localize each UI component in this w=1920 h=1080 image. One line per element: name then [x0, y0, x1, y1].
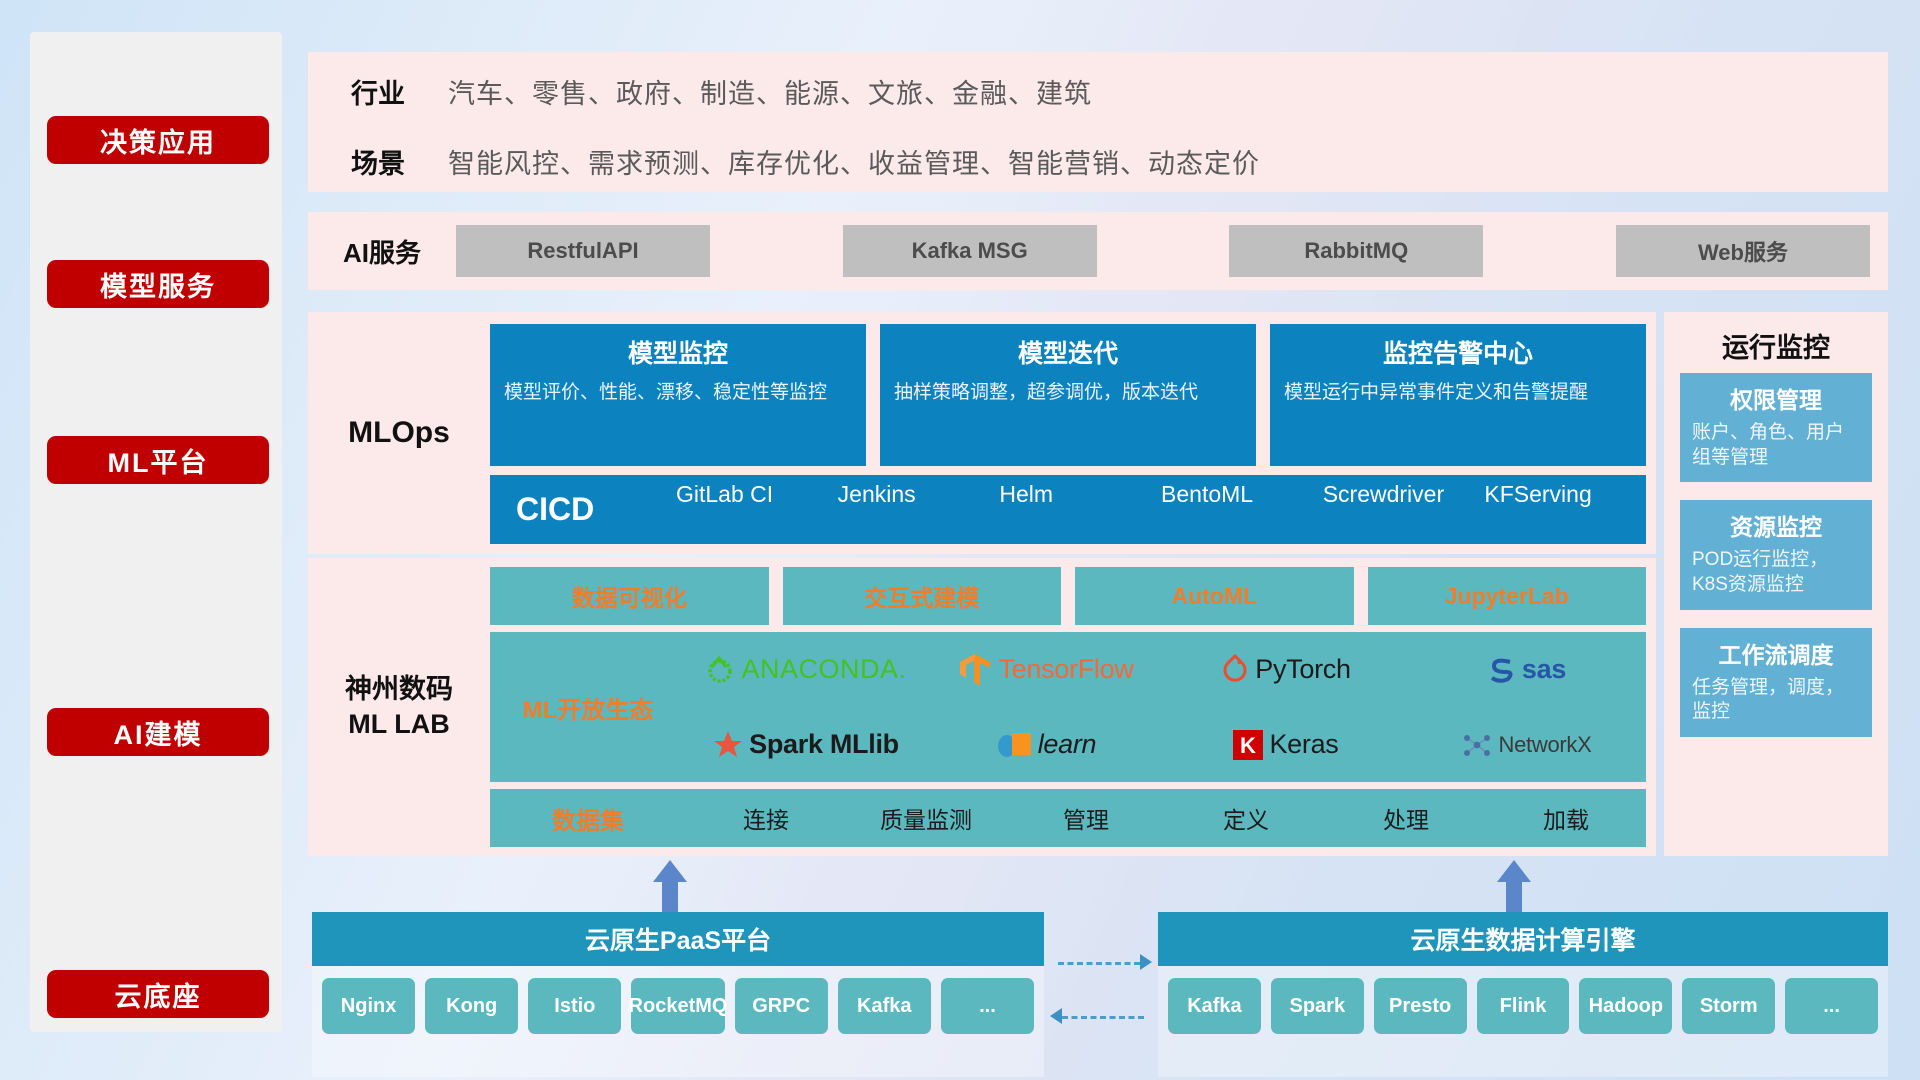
dataset-item-connect[interactable]: 连接	[686, 801, 846, 835]
rail-label: 云底座	[115, 975, 202, 1014]
ml-ecosystem-logos: ANACONDA. TensorFlow PyTorch sas	[686, 632, 1646, 782]
anaconda-logo: ANACONDA.	[705, 654, 906, 685]
chip-rocketmq[interactable]: RocketMQ	[631, 978, 724, 1034]
dataset-item-processing[interactable]: 处理	[1326, 801, 1486, 835]
mlops-label: MLOps	[308, 312, 490, 554]
pytorch-logo: PyTorch	[1221, 654, 1350, 686]
ml-lab-tools: 数据可视化 交互式建模 AutoML JupyterLab	[490, 567, 1646, 625]
sas-wordmark: sas	[1522, 654, 1566, 685]
card-title: 模型迭代	[894, 334, 1242, 370]
cloud-compute-panel: 云原生数据计算引擎 Kafka Spark Presto Flink Hadoo…	[1158, 912, 1888, 1077]
spark-mllib-wordmark: Spark MLlib	[749, 729, 899, 760]
scenario-line: 场景 智能风控、需求预测、库存优化、收益管理、智能营销、动态定价	[308, 126, 1888, 196]
dashed-arrowhead-right	[1140, 954, 1152, 970]
card-title: 权限管理	[1692, 381, 1860, 415]
card-title: 工作流调度	[1692, 636, 1860, 670]
ai-service-box-restfulapi[interactable]: RestfulAPI	[456, 225, 710, 277]
dataset-item-definition[interactable]: 定义	[1166, 801, 1326, 835]
chip-flink[interactable]: Flink	[1477, 978, 1570, 1034]
diagram-canvas: 决策应用 模型服务 ML平台 AI建模 云底座 行业 汽车、零售、政府、制造、能…	[0, 0, 1920, 1080]
keras-logo: K Keras	[1233, 729, 1338, 760]
ai-service-label: AI服务	[308, 233, 456, 270]
dataset-label: 数据集	[490, 801, 686, 836]
cloud-compute-chips: Kafka Spark Presto Flink Hadoop Storm ..…	[1158, 966, 1888, 1046]
mlops-card-alert-center[interactable]: 监控告警中心 模型运行中异常事件定义和告警提醒	[1270, 324, 1646, 466]
cicd-item-screwdriver[interactable]: Screwdriver	[1323, 481, 1485, 537]
cicd-title: CICD	[516, 491, 676, 528]
mlops-card-model-monitoring[interactable]: 模型监控 模型评价、性能、漂移、稳定性等监控	[490, 324, 866, 466]
dashed-connector-right	[1058, 962, 1140, 965]
runtime-monitor-title: 运行监控	[1664, 312, 1888, 373]
cicd-item-jenkins[interactable]: Jenkins	[838, 481, 1000, 537]
rail-label: AI建模	[114, 713, 203, 752]
monitor-card-resource[interactable]: 资源监控 POD运行监控，K8S资源监控	[1680, 500, 1872, 609]
ml-ecosystem-label: ML开放生态	[490, 690, 686, 725]
cloud-paas-chips: Nginx Kong Istio RocketMQ GRPC Kafka ...	[312, 966, 1044, 1046]
scenario-values: 智能风控、需求预测、库存优化、收益管理、智能营销、动态定价	[448, 142, 1260, 181]
card-desc: POD运行监控，K8S资源监控	[1692, 548, 1860, 597]
scikit-learn-logo: learn	[996, 729, 1097, 760]
runtime-monitor-panel: 运行监控 权限管理 账户、角色、用户组等管理 资源监控 POD运行监控，K8S资…	[1664, 312, 1888, 856]
ml-lab-label: 神州数码 ML LAB	[308, 558, 490, 856]
card-desc: 模型评价、性能、漂移、稳定性等监控	[504, 380, 852, 405]
chip-kafka-compute[interactable]: Kafka	[1168, 978, 1261, 1034]
cicd-item-gitlab-ci[interactable]: GitLab CI	[676, 481, 838, 537]
card-desc: 任务管理，调度，监控	[1692, 676, 1860, 725]
rail-item-ai-modeling[interactable]: AI建模	[47, 708, 269, 756]
tensorflow-logo: TensorFlow	[958, 652, 1133, 688]
monitor-card-permission[interactable]: 权限管理 账户、角色、用户组等管理	[1680, 373, 1872, 482]
tool-chip-interactive-modeling[interactable]: 交互式建模	[783, 567, 1062, 625]
dataset-item-loading[interactable]: 加载	[1486, 801, 1646, 835]
card-desc: 账户、角色、用户组等管理	[1692, 421, 1860, 470]
dataset-row: 数据集 连接 质量监测 管理 定义 处理 加载	[490, 789, 1646, 847]
ml-lab-label-line2: ML LAB	[345, 707, 453, 742]
ai-service-boxes: RestfulAPI Kafka MSG RabbitMQ Web服务	[456, 225, 1888, 277]
chip-grpc[interactable]: GRPC	[735, 978, 828, 1034]
tool-chip-automl[interactable]: AutoML	[1075, 567, 1354, 625]
anaconda-wordmark: ANACONDA.	[741, 654, 906, 685]
chip-kafka[interactable]: Kafka	[838, 978, 931, 1034]
ml-lab-label-line1: 神州数码	[345, 672, 453, 707]
left-rail: 决策应用 模型服务 ML平台 AI建模 云底座	[30, 32, 282, 1032]
chip-nginx[interactable]: Nginx	[322, 978, 415, 1034]
rail-item-cloud-base[interactable]: 云底座	[47, 970, 269, 1018]
networkx-logo: NetworkX	[1461, 730, 1592, 760]
sas-logo: sas	[1486, 654, 1566, 685]
card-title: 监控告警中心	[1284, 334, 1632, 370]
tensorflow-wordmark: TensorFlow	[998, 654, 1133, 685]
ai-service-box-rabbitmq[interactable]: RabbitMQ	[1229, 225, 1483, 277]
rail-label: ML平台	[108, 441, 209, 480]
cicd-item-bentoml[interactable]: BentoML	[1161, 481, 1323, 537]
tool-chip-jupyterlab[interactable]: JupyterLab	[1368, 567, 1647, 625]
card-title: 模型监控	[504, 334, 852, 370]
dataset-item-quality-monitoring[interactable]: 质量监测	[846, 801, 1006, 835]
ai-service-band: AI服务 RestfulAPI Kafka MSG RabbitMQ Web服务	[308, 212, 1888, 290]
card-desc: 模型运行中异常事件定义和告警提醒	[1284, 380, 1632, 405]
chip-spark[interactable]: Spark	[1271, 978, 1364, 1034]
industry-values: 汽车、零售、政府、制造、能源、文旅、金融、建筑	[448, 72, 1092, 111]
dataset-item-management[interactable]: 管理	[1006, 801, 1166, 835]
dashed-connector-left	[1062, 1016, 1144, 1019]
ml-lab-band: 神州数码 ML LAB 数据可视化 交互式建模 AutoML JupyterLa…	[308, 558, 1656, 856]
mlops-card-model-iteration[interactable]: 模型迭代 抽样策略调整，超参调优，版本迭代	[880, 324, 1256, 466]
rail-label: 模型服务	[100, 265, 216, 304]
card-title: 资源监控	[1692, 508, 1860, 542]
ml-ecosystem-row: ML开放生态 ANACONDA. TensorFlow PyTorc	[490, 632, 1646, 782]
ai-service-box-web-service[interactable]: Web服务	[1616, 225, 1870, 277]
chip-more-compute[interactable]: ...	[1785, 978, 1878, 1034]
card-desc: 抽样策略调整，超参调优，版本迭代	[894, 380, 1242, 405]
mlops-band: MLOps 模型监控 模型评价、性能、漂移、稳定性等监控 模型迭代 抽样策略调整…	[308, 312, 1656, 554]
chip-hadoop[interactable]: Hadoop	[1579, 978, 1672, 1034]
up-arrow-paas	[653, 860, 687, 918]
cicd-bar: CICD GitLab CI Jenkins Helm BentoML Scre…	[490, 475, 1646, 544]
chip-storm[interactable]: Storm	[1682, 978, 1775, 1034]
cloud-paas-title: 云原生PaaS平台	[312, 912, 1044, 966]
networkx-wordmark: NetworkX	[1499, 732, 1592, 758]
scenario-label: 场景	[308, 142, 448, 181]
cloud-paas-panel: 云原生PaaS平台 Nginx Kong Istio RocketMQ GRPC…	[312, 912, 1044, 1077]
cicd-item-helm[interactable]: Helm	[999, 481, 1161, 537]
ai-service-box-kafka-msg[interactable]: Kafka MSG	[843, 225, 1097, 277]
rail-item-model-service[interactable]: 模型服务	[47, 260, 269, 308]
cicd-item-kfserving[interactable]: KFServing	[1484, 481, 1646, 537]
pytorch-wordmark: PyTorch	[1255, 654, 1350, 685]
chip-presto[interactable]: Presto	[1374, 978, 1467, 1034]
industry-label: 行业	[308, 72, 448, 111]
monitor-card-workflow[interactable]: 工作流调度 任务管理，调度，监控	[1680, 628, 1872, 737]
mlops-cards: 模型监控 模型评价、性能、漂移、稳定性等监控 模型迭代 抽样策略调整，超参调优，…	[490, 324, 1646, 466]
up-arrow-compute	[1497, 860, 1531, 918]
keras-wordmark: Keras	[1269, 729, 1338, 760]
svg-text:K: K	[1241, 733, 1257, 758]
rail-label: 决策应用	[100, 121, 216, 160]
industry-scenario-band: 行业 汽车、零售、政府、制造、能源、文旅、金融、建筑 场景 智能风控、需求预测、…	[308, 52, 1888, 192]
industry-line: 行业 汽车、零售、政府、制造、能源、文旅、金融、建筑	[308, 56, 1888, 126]
chip-more-paas[interactable]: ...	[941, 978, 1034, 1034]
spark-mllib-logo: Spark MLlib	[713, 729, 899, 760]
cloud-compute-title: 云原生数据计算引擎	[1158, 912, 1888, 966]
dashed-arrowhead-left	[1050, 1008, 1062, 1024]
scikit-learn-wordmark: learn	[1038, 729, 1097, 760]
rail-item-ml-platform[interactable]: ML平台	[47, 436, 269, 484]
tool-chip-data-visualization[interactable]: 数据可视化	[490, 567, 769, 625]
chip-istio[interactable]: Istio	[528, 978, 621, 1034]
rail-item-decision-app[interactable]: 决策应用	[47, 116, 269, 164]
chip-kong[interactable]: Kong	[425, 978, 518, 1034]
